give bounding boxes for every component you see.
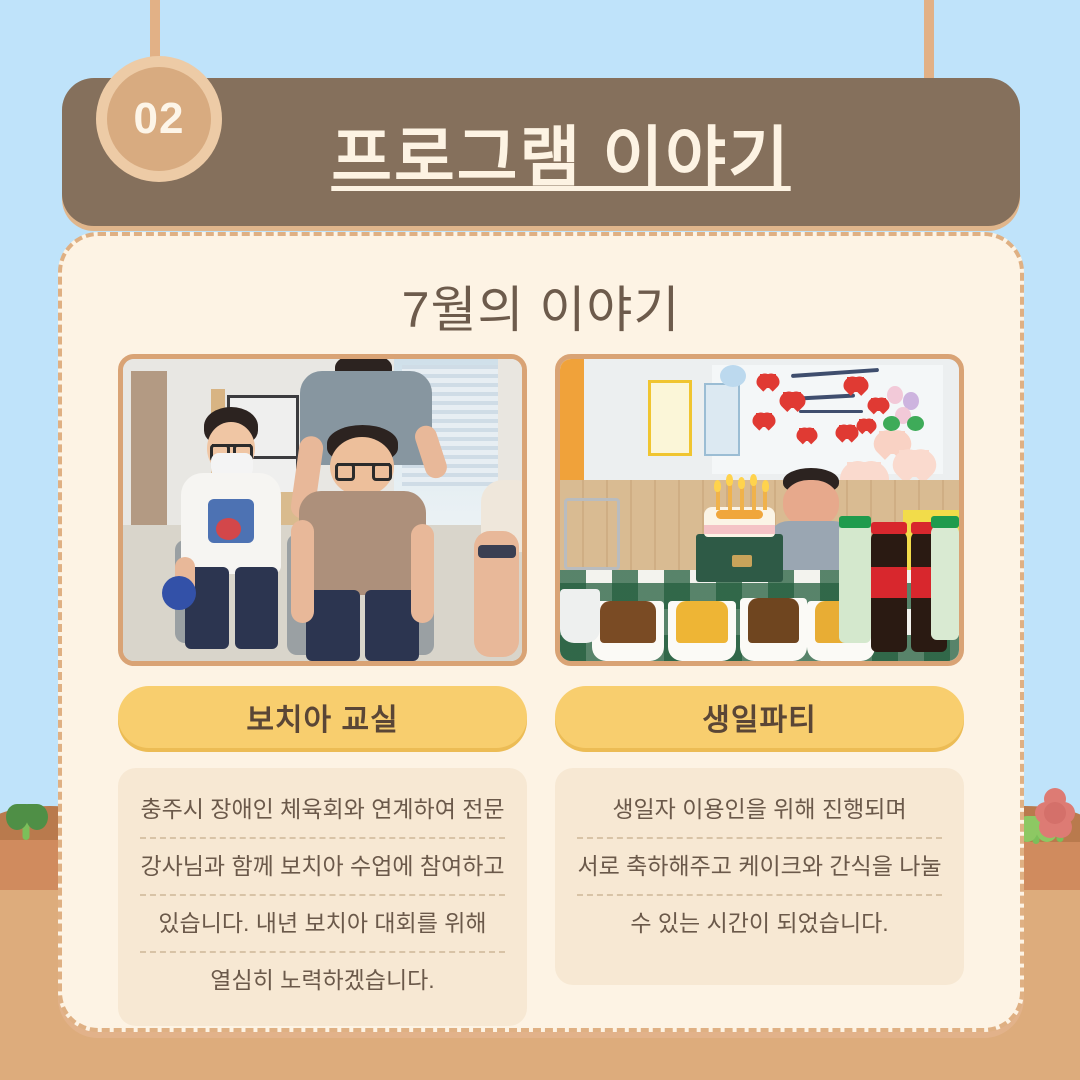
heart-icon <box>783 392 801 408</box>
balloon-icon <box>720 365 746 387</box>
desc-line: 충주시 장애인 체육회와 연계하여 전문 <box>140 794 505 839</box>
heart-icon <box>871 398 886 411</box>
desc-line: 수 있는 시간이 되었습니다. <box>577 908 942 939</box>
desc-line: 있습니다. 내년 보치아 대회를 위해 <box>140 908 505 953</box>
description-birthday: 생일자 이용인을 위해 진행되며 서로 축하해주고 케이크와 간식을 나눌 수 … <box>555 768 964 985</box>
card-subtitle: 7월의 이야기 <box>62 270 1020 342</box>
content-card: 7월의 이야기 <box>58 232 1024 1032</box>
poster-canvas: 프로그램 이야기 02 7월의 이야기 <box>0 0 1080 1080</box>
heart-icon <box>899 450 929 477</box>
photo-frame-boccia <box>118 354 527 666</box>
hanging-strap-right <box>924 0 934 90</box>
desc-line: 강사님과 함께 보치아 수업에 참여하고 <box>140 851 505 896</box>
section-number-badge: 02 <box>96 56 222 182</box>
person-seated-left <box>179 407 283 649</box>
person-seated-middle <box>299 425 427 661</box>
photo-boccia-class <box>123 359 522 661</box>
caption-pill-boccia: 보치아 교실 <box>118 686 527 748</box>
food-bowl <box>560 589 600 643</box>
heart-icon <box>859 419 873 431</box>
caption-pill-birthday: 생일파티 <box>555 686 964 748</box>
heart-icon <box>799 428 814 441</box>
photo-birthday-party <box>560 359 959 661</box>
bottle-sprite <box>839 522 871 643</box>
heart-icon <box>756 413 772 427</box>
sections-row: 보치아 교실 충주시 장애인 체육회와 연계하여 전문 강사님과 함께 보치아 … <box>118 354 964 1026</box>
section-birthday: 생일파티 생일자 이용인을 위해 진행되며 서로 축하해주고 케이크와 간식을 … <box>555 354 964 1026</box>
heart-icon <box>760 374 776 388</box>
description-boccia: 충주시 장애인 체육회와 연계하여 전문 강사님과 함께 보치아 수업에 참여하… <box>118 768 527 1026</box>
photo-frame-birthday <box>555 354 964 666</box>
heart-icon <box>847 377 864 392</box>
bottle-sprite <box>931 525 959 640</box>
section-boccia: 보치아 교실 충주시 장애인 체육회와 연계하여 전문 강사님과 함께 보치아 … <box>118 354 527 1026</box>
desc-line: 서로 축하해주고 케이크와 간식을 나눌 <box>577 851 942 896</box>
flower-pink-right-icon <box>1040 796 1080 842</box>
sprout-dark-icon <box>6 806 46 840</box>
desc-line: 생일자 이용인을 위해 진행되며 <box>577 794 942 839</box>
section-number-text: 02 <box>107 67 211 171</box>
heart-icon <box>839 425 855 439</box>
desc-line: 열심히 노력하겠습니다. <box>140 965 505 996</box>
person-seated-right <box>474 480 522 661</box>
